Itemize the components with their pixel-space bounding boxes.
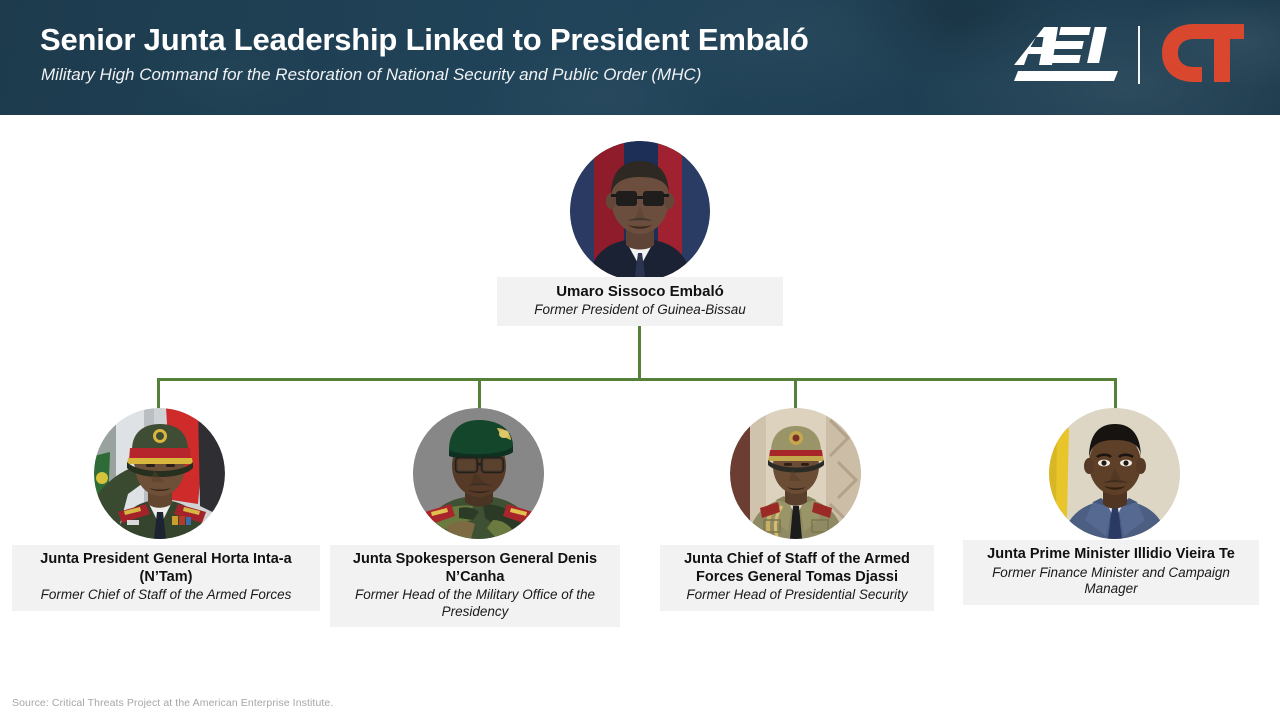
connector-horizontal-bus xyxy=(157,378,1117,381)
node-child-4-role: Former Finance Minister and Campaign Man… xyxy=(971,565,1251,598)
logo-group xyxy=(1014,22,1246,88)
node-child-3-name-line2: Forces General Tomas Djassi xyxy=(668,569,926,587)
node-child-2-name-line2: N’Canha xyxy=(338,569,612,587)
label-child-4: Junta Prime Minister Illidio Vieira Te F… xyxy=(963,540,1259,605)
node-child-1-name-line2: (N’Tam) xyxy=(20,569,312,587)
aei-logo xyxy=(1014,21,1118,90)
logo-divider xyxy=(1138,26,1140,84)
avatar-embalo xyxy=(570,141,710,281)
node-child-2-name-line1: Junta Spokesperson General Denis xyxy=(338,551,612,569)
avatar-illidio-vieira-te xyxy=(1049,408,1180,539)
node-child-3-name-line1: Junta Chief of Staff of the Armed xyxy=(668,551,926,569)
org-chart: Umaro Sissoco Embaló Former President of… xyxy=(0,115,1280,720)
page-title: Senior Junta Leadership Linked to Presid… xyxy=(40,22,809,58)
source-note: Source: Critical Threats Project at the … xyxy=(12,697,333,709)
slide-root: Senior Junta Leadership Linked to Presid… xyxy=(0,0,1280,720)
ct-logo xyxy=(1160,22,1246,89)
node-child-3-role: Former Head of Presidential Security xyxy=(668,587,926,603)
label-root: Umaro Sissoco Embaló Former President of… xyxy=(497,277,783,326)
node-root-role: Former President of Guinea-Bissau xyxy=(505,302,775,318)
connector-root-stem xyxy=(638,326,641,380)
avatar-horta-inta-a xyxy=(94,408,225,539)
label-child-2: Junta Spokesperson General Denis N’Canha… xyxy=(330,545,620,627)
header-banner: Senior Junta Leadership Linked to Presid… xyxy=(0,0,1280,115)
page-subtitle: Military High Command for the Restoratio… xyxy=(41,65,701,85)
node-child-4-name-line1: Junta Prime Minister Illidio Vieira Te xyxy=(971,546,1251,564)
avatar-tomas-djassi xyxy=(730,408,861,539)
label-child-3: Junta Chief of Staff of the Armed Forces… xyxy=(660,545,934,611)
node-child-1-role: Former Chief of Staff of the Armed Force… xyxy=(20,587,312,603)
node-child-2-role: Former Head of the Military Office of th… xyxy=(338,587,612,620)
node-child-1-name-line1: Junta President General Horta Inta-a xyxy=(20,551,312,569)
avatar-denis-ncanha xyxy=(413,408,544,539)
label-child-1: Junta President General Horta Inta-a (N’… xyxy=(12,545,320,611)
node-root-name: Umaro Sissoco Embaló xyxy=(505,283,775,301)
